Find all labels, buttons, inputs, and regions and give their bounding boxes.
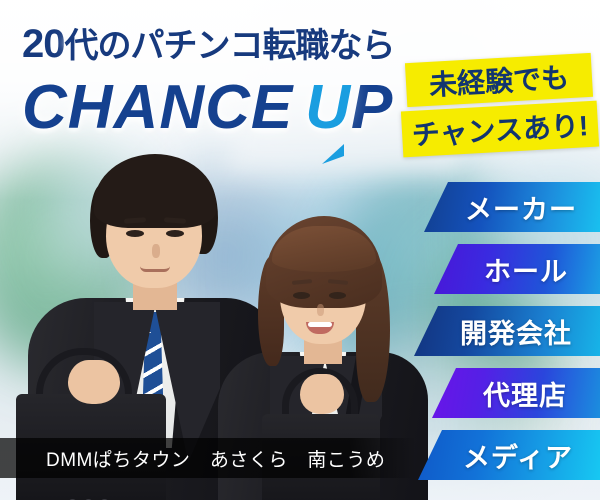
logo-chance-up: CHANCEUP xyxy=(22,72,393,143)
nose xyxy=(152,244,160,258)
eye xyxy=(166,230,184,237)
category-label: メーカー xyxy=(447,188,577,227)
category-label: メディア xyxy=(445,436,573,475)
logo-letter-u: U xyxy=(305,72,351,143)
category-button-media[interactable]: メディア xyxy=(418,430,600,480)
eye xyxy=(126,230,144,237)
logo-letter-p: P xyxy=(351,73,393,142)
nose xyxy=(317,304,324,316)
caption-band: DMMぱちタウン あさくら 南こうめ xyxy=(0,438,416,478)
badge-label: チャンスあり! xyxy=(411,104,589,154)
category-button-hall[interactable]: ホール xyxy=(434,244,600,294)
hand xyxy=(300,374,344,414)
category-label: 代理店 xyxy=(465,374,567,413)
teeth xyxy=(308,322,332,327)
logo-word-chance: CHANCE xyxy=(22,73,293,142)
headline-number: 20 xyxy=(22,22,65,66)
category-button-maker[interactable]: メーカー xyxy=(424,182,600,232)
logo-word-up: UP xyxy=(305,73,393,142)
headline: 20代のパチンコ転職なら xyxy=(22,18,395,67)
category-label: 開発会社 xyxy=(442,312,572,351)
category-button-agency[interactable]: 代理店 xyxy=(432,368,600,418)
caption-text: DMMぱちタウン あさくら 南こうめ xyxy=(0,445,385,472)
ad-banner[interactable]: 20代のパチンコ転職なら CHANCEUP 未経験でも チャンスあり! メーカー… xyxy=(0,0,600,500)
hand xyxy=(68,360,120,404)
category-label: ホール xyxy=(466,250,568,289)
hair xyxy=(94,154,216,228)
eye xyxy=(293,292,310,299)
headline-text: 代のパチンコ転職なら xyxy=(65,27,395,65)
category-button-developer[interactable]: 開発会社 xyxy=(414,306,600,356)
mouth xyxy=(140,266,170,272)
badge-label: 未経験でも xyxy=(428,56,570,104)
eye xyxy=(329,292,346,299)
